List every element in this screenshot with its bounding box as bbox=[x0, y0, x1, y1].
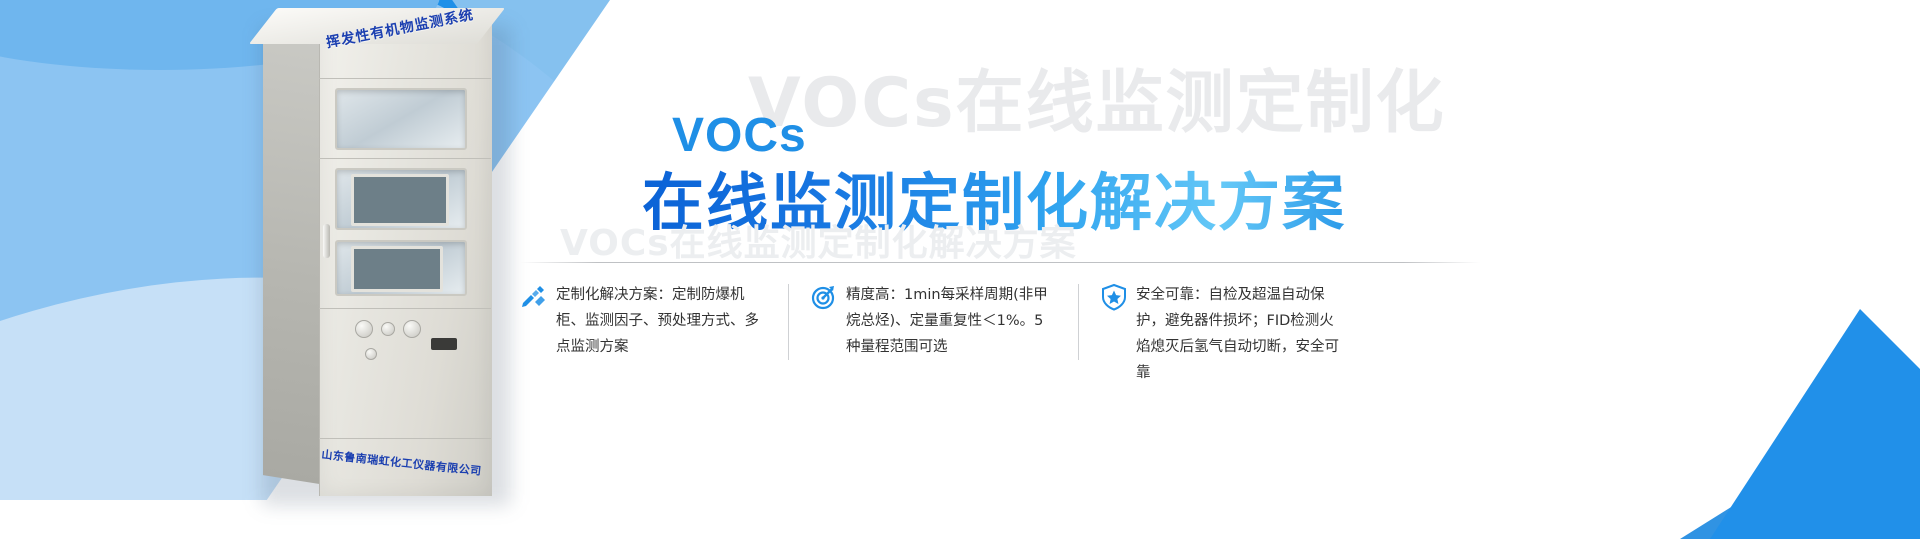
feature-text: 精度高：1min每采样周期(非甲烷总烃)、定量重复性＜1%。5种量程范围可选 bbox=[846, 282, 1056, 392]
target-arrow-icon bbox=[810, 283, 838, 311]
cabinet-seam bbox=[319, 438, 491, 439]
vocs-promo-banner: VOCs在线监测定制化 挥发性有机物监测系统 山东鲁南瑞虹化工仪器有限公司 VO… bbox=[0, 0, 1920, 539]
cabinet-knob bbox=[403, 320, 421, 338]
feature-text: 定制化解决方案：定制防爆机柜、监测因子、预处理方式、多点监测方案 bbox=[556, 282, 766, 392]
cabinet-side-panel bbox=[263, 31, 325, 485]
cabinet-window-upper bbox=[335, 88, 467, 150]
cabinet-seam bbox=[319, 308, 491, 309]
cabinet-knob bbox=[355, 320, 373, 338]
feature-item: 安全可靠：自检及超温自动保护，避免器件损坏；FID检测火焰熄灭后氢气自动切断，安… bbox=[1078, 282, 1368, 392]
pencil-ruler-icon bbox=[520, 283, 548, 311]
cabinet-seam bbox=[319, 158, 491, 159]
cabinet-knob bbox=[381, 322, 395, 336]
feature-item: 定制化解决方案：定制防爆机柜、监测因子、预处理方式、多点监测方案 bbox=[520, 282, 788, 392]
cabinet-seam bbox=[319, 78, 491, 79]
watermark-mid-text: VOCs在线监测定制化解决方案 bbox=[560, 214, 1077, 266]
feature-text: 安全可靠：自检及超温自动保护，避免器件损坏；FID检测火焰熄灭后氢气自动切断，安… bbox=[1136, 282, 1346, 392]
shield-star-icon bbox=[1100, 283, 1128, 311]
product-cabinet-image: 挥发性有机物监测系统 山东鲁南瑞虹化工仪器有限公司 bbox=[255, 8, 515, 508]
cabinet-knob bbox=[365, 348, 377, 360]
feature-item: 精度高：1min每采样周期(非甲烷总烃)、定量重复性＜1%。5种量程范围可选 bbox=[788, 282, 1078, 392]
cabinet-display-upper bbox=[351, 174, 449, 226]
cabinet-door-handle bbox=[323, 224, 330, 258]
section-divider bbox=[520, 262, 1480, 263]
watermark-top-text: VOCs在线监测定制化 bbox=[748, 47, 1446, 146]
cabinet-display-lower bbox=[351, 246, 443, 292]
feature-list: 定制化解决方案：定制防爆机柜、监测因子、预处理方式、多点监测方案 精度高：1mi… bbox=[520, 282, 1500, 392]
cabinet-vent-strip bbox=[431, 338, 457, 350]
